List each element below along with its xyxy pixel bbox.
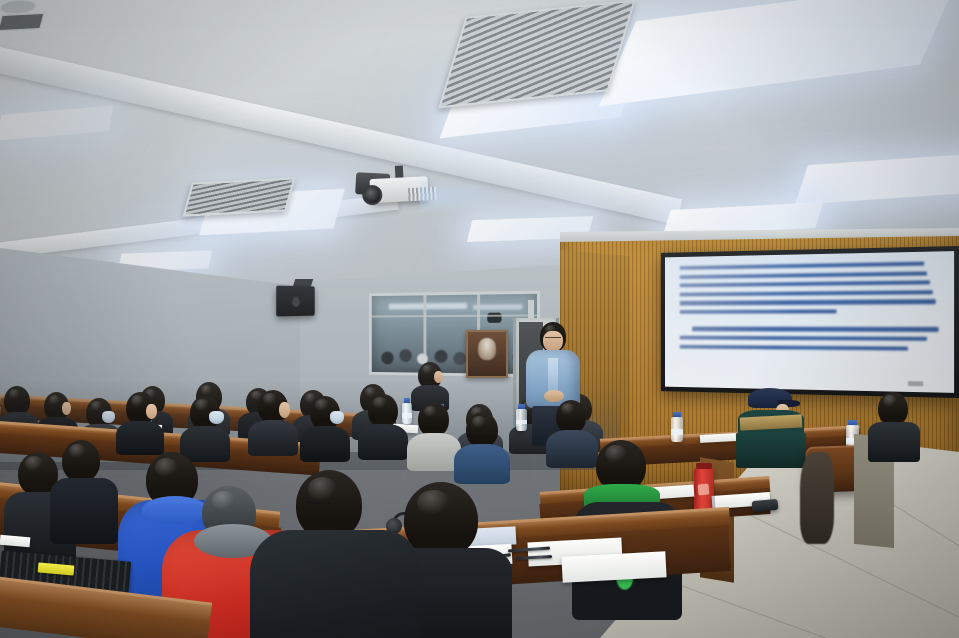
hvac-diffuser-icon: [0, 13, 45, 31]
thermos-cap-icon: [696, 463, 712, 469]
projector-light-beam: [420, 178, 510, 214]
glasses-icon: [306, 501, 330, 511]
projector-stem: [395, 165, 404, 177]
adjacent-room-people: [376, 343, 533, 370]
lecturer-hands: [544, 390, 564, 402]
thermos-label: [698, 483, 710, 495]
red-thermos: [694, 468, 714, 512]
face-mask: [330, 411, 344, 424]
dark-hoodie: [250, 530, 420, 638]
light-panel: [795, 151, 959, 205]
adjacent-room-light: [473, 304, 522, 310]
jacket-hood: [142, 496, 208, 524]
draped-coat: [800, 452, 834, 544]
slide-text-block: [680, 261, 942, 356]
water-bottle: [516, 404, 527, 431]
slide-text-line: [680, 344, 908, 350]
glasses-icon: [545, 337, 561, 342]
sweater-lower: [736, 432, 806, 468]
slide-text-line: [680, 280, 931, 287]
water-bottle: [671, 412, 683, 442]
speaker-cone-icon: [292, 297, 300, 307]
smartphone: [752, 499, 779, 512]
slide-text-line: [680, 271, 928, 279]
slide-text-line: [680, 336, 928, 341]
light-panel: [599, 0, 957, 106]
picture-figure: [478, 338, 496, 360]
slide-text-line: [680, 290, 933, 297]
projection-screen: [661, 246, 959, 398]
slide-text-line: [692, 327, 939, 332]
hvac-diffuser-icon: [183, 177, 296, 216]
notebook: [561, 551, 666, 582]
student-light-jacket: [407, 433, 461, 471]
slide-text-line: [680, 299, 936, 305]
water-bottle: [402, 398, 412, 424]
screen-watermark: [907, 381, 922, 386]
adjacent-room-light: [389, 303, 467, 310]
screen-border: [661, 246, 959, 398]
framed-picture: [466, 330, 508, 378]
lecture-hall-photo: [0, 0, 959, 638]
slide-text-line: [680, 262, 925, 271]
face-mask: [209, 411, 224, 424]
screen-surface: [665, 251, 954, 393]
slide-text-line: [680, 309, 837, 314]
wall-speaker: [276, 286, 314, 317]
light-panel: [0, 105, 114, 140]
